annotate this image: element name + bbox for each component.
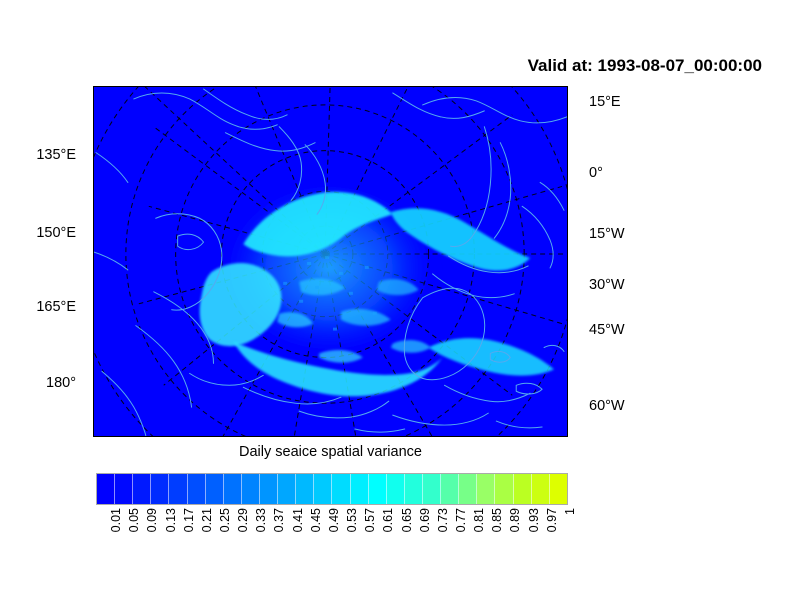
colorbar-tick-label: 0.29 <box>236 508 250 532</box>
colorbar-tick-label: 0.33 <box>254 508 268 532</box>
colorbar-cell <box>423 474 441 504</box>
map-panel[interactable] <box>93 86 568 437</box>
colorbar-cell <box>188 474 206 504</box>
axis-label-right-0: 0° <box>589 165 603 181</box>
colorbar-tick-label: 0.69 <box>418 508 432 532</box>
colorbar-cell <box>169 474 187 504</box>
colorbar-tick-label: 0.05 <box>127 508 141 532</box>
colorbar-tick-label: 0.93 <box>527 508 541 532</box>
colorbar-tick-label: 0.13 <box>164 508 178 532</box>
colorbar-cell <box>133 474 151 504</box>
axis-label-left-150e: 150°E <box>0 225 76 241</box>
colorbar-cell <box>296 474 314 504</box>
colorbar-cell <box>532 474 550 504</box>
colorbar-tick-label: 0.81 <box>472 508 486 532</box>
colorbar-cell <box>224 474 242 504</box>
colorbar-cell <box>332 474 350 504</box>
colorbar-cell <box>369 474 387 504</box>
colorbar-cell <box>459 474 477 504</box>
colorbar-cell <box>151 474 169 504</box>
colorbar-cell <box>351 474 369 504</box>
colorbar-cell <box>260 474 278 504</box>
axis-label-right-30w: 30°W <box>589 277 625 293</box>
colorbar-cell <box>278 474 296 504</box>
colorbar-tick-label: 0.65 <box>400 508 414 532</box>
colorbar-tick-label: 0.41 <box>291 508 305 532</box>
colorbar-cell <box>314 474 332 504</box>
map-plot-svg <box>94 87 567 436</box>
colorbar-cell <box>97 474 115 504</box>
axis-label-left-165e: 165°E <box>0 299 76 315</box>
colorbar-cell <box>115 474 133 504</box>
colorbar-cell <box>477 474 495 504</box>
colorbar-tick-label: 0.57 <box>363 508 377 532</box>
axis-label-right-15e: 15°E <box>589 94 621 110</box>
colorbar[interactable] <box>96 473 568 505</box>
colorbar-tick-label: 0.53 <box>345 508 359 532</box>
axis-label-left-135e: 135°E <box>0 147 76 163</box>
page-title: Valid at: 1993-08-07_00:00:00 <box>528 56 762 76</box>
figure-canvas: Valid at: 1993-08-07_00:00:00 <box>0 0 792 612</box>
colorbar-cell <box>405 474 423 504</box>
colorbar-tick-label: 0.21 <box>200 508 214 532</box>
colorbar-tick-label: 0.73 <box>436 508 450 532</box>
colorbar-tick-label: 0.09 <box>145 508 159 532</box>
colorbar-tick-label: 0.85 <box>490 508 504 532</box>
axis-label-right-15w: 15°W <box>589 226 625 242</box>
colorbar-tick-label: 0.37 <box>272 508 286 532</box>
colorbar-cell <box>495 474 513 504</box>
colorbar-tick-label: 0.49 <box>327 508 341 532</box>
colorbar-caption: Daily seaice spatial variance <box>93 444 568 460</box>
colorbar-tick-label: 0.25 <box>218 508 232 532</box>
colorbar-tick-label: 1 <box>563 508 577 515</box>
colorbar-cell <box>242 474 260 504</box>
colorbar-cell <box>387 474 405 504</box>
colorbar-cell <box>441 474 459 504</box>
colorbar-tick-label: 0.97 <box>545 508 559 532</box>
colorbar-tick-label: 0.01 <box>109 508 123 532</box>
colorbar-cell <box>514 474 532 504</box>
colorbar-cell <box>550 474 567 504</box>
colorbar-tick-label: 0.89 <box>508 508 522 532</box>
axis-label-right-45w: 45°W <box>589 322 625 338</box>
axis-label-right-60w: 60°W <box>589 398 625 414</box>
colorbar-tick-labels: 0.010.050.090.130.170.210.250.290.330.37… <box>96 506 568 576</box>
colorbar-cell <box>206 474 224 504</box>
axis-label-left-180: 180° <box>0 375 76 391</box>
colorbar-tick-label: 0.61 <box>381 508 395 532</box>
colorbar-tick-label: 0.45 <box>309 508 323 532</box>
colorbar-tick-label: 0.77 <box>454 508 468 532</box>
colorbar-tick-label: 0.17 <box>182 508 196 532</box>
